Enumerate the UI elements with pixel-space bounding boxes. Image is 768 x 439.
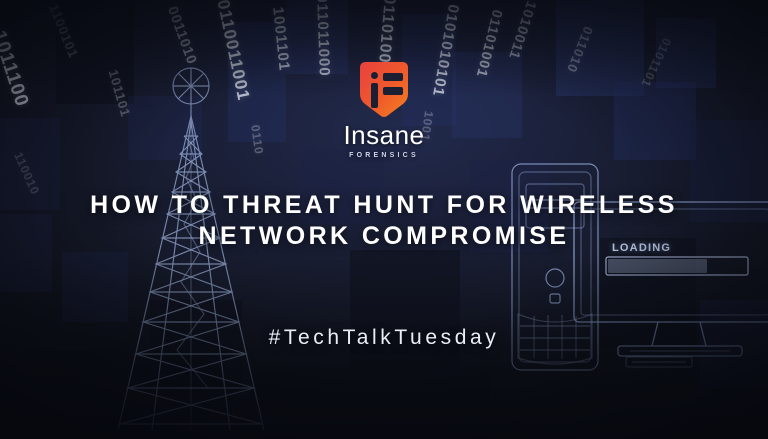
brand-subtitle: FORENSICS (349, 152, 419, 159)
headline-line-1: HOW TO THREAT HUNT FOR WIRELESS (90, 191, 678, 219)
page-title: HOW TO THREAT HUNT FOR WIRELESS NETWORK … (0, 190, 768, 252)
shield-if-monogram-icon (350, 52, 418, 120)
brand-logo: Insane FORENSICS (0, 52, 768, 159)
hashtag-label: #TechTalkTuesday (0, 326, 768, 350)
brand-name: Insane (343, 122, 424, 148)
webinar-title-card: 1011100 0110011001 1001101 011011000 011… (0, 0, 768, 439)
headline-line-2: NETWORK COMPROMISE (28, 221, 740, 252)
